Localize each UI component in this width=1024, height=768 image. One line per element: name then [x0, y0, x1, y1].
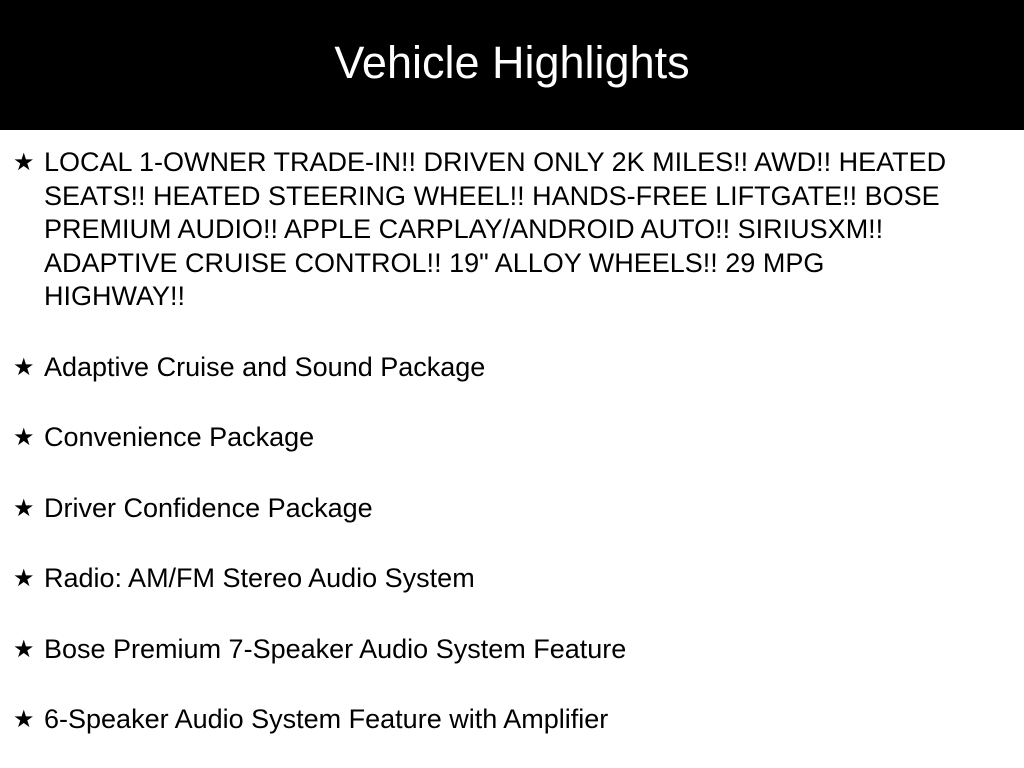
list-item-label: Driver Confidence Package	[44, 492, 959, 526]
list-item: ★ Convenience Package	[13, 421, 1004, 455]
list-item-label: 6-Speaker Audio System Feature with Ampl…	[44, 703, 959, 737]
list-item-label: Radio: AM/FM Stereo Audio System	[44, 562, 959, 596]
list-item: ★ LOCAL 1-OWNER TRADE-IN!! DRIVEN ONLY 2…	[13, 146, 1004, 314]
list-item-label: LOCAL 1-OWNER TRADE-IN!! DRIVEN ONLY 2K …	[44, 146, 959, 314]
star-bullet-icon: ★	[13, 146, 44, 180]
list-item: ★ Bose Premium 7-Speaker Audio System Fe…	[13, 633, 1004, 667]
list-item: ★ Adaptive Cruise and Sound Package	[13, 351, 1004, 385]
vehicle-highlights-list: ★ LOCAL 1-OWNER TRADE-IN!! DRIVEN ONLY 2…	[13, 146, 1004, 737]
star-bullet-icon: ★	[13, 562, 44, 596]
star-bullet-icon: ★	[13, 633, 44, 667]
star-bullet-icon: ★	[13, 703, 44, 737]
highlights-content: ★ LOCAL 1-OWNER TRADE-IN!! DRIVEN ONLY 2…	[0, 130, 1024, 768]
page-title: Vehicle Highlights	[334, 40, 689, 91]
star-bullet-icon: ★	[13, 351, 44, 385]
list-item: ★ 6-Speaker Audio System Feature with Am…	[13, 703, 1004, 737]
list-item: ★ Radio: AM/FM Stereo Audio System	[13, 562, 1004, 596]
star-bullet-icon: ★	[13, 421, 44, 455]
star-bullet-icon: ★	[13, 492, 44, 526]
list-item-label: Adaptive Cruise and Sound Package	[44, 351, 959, 385]
list-item-label: Convenience Package	[44, 421, 959, 455]
list-item: ★ Driver Confidence Package	[13, 492, 1004, 526]
vehicle-highlights-page: Vehicle Highlights ★ LOCAL 1-OWNER TRADE…	[0, 0, 1024, 768]
page-header: Vehicle Highlights	[0, 0, 1024, 130]
list-item-label: Bose Premium 7-Speaker Audio System Feat…	[44, 633, 959, 667]
